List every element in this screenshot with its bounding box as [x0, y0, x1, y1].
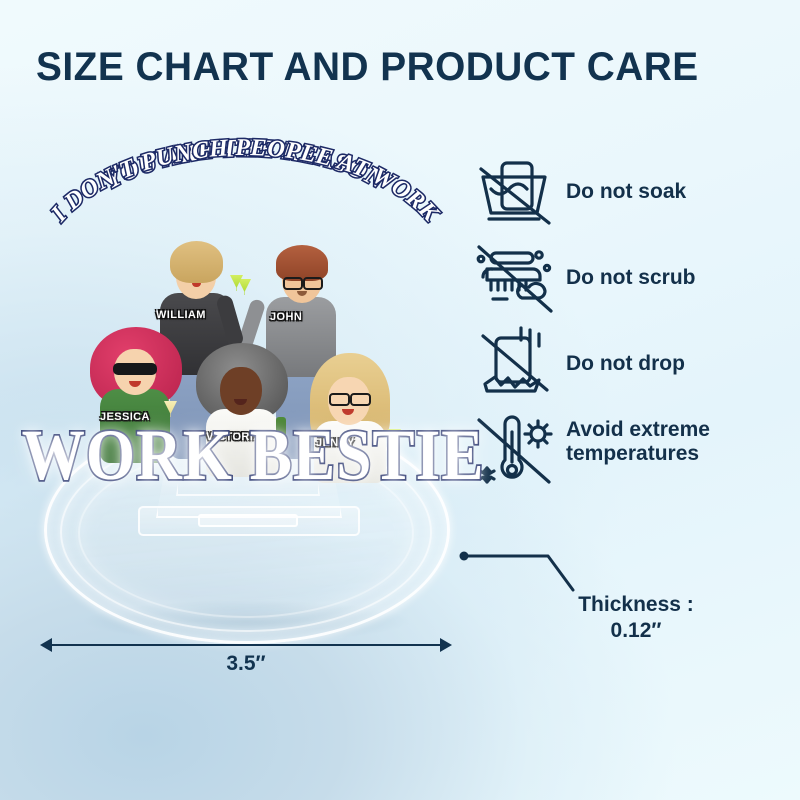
- care-label-do-not-soak: Do not soak: [566, 180, 686, 204]
- care-label-avoid-extreme-temperatures: Avoid extreme temperatures: [566, 410, 710, 466]
- thickness-label: Thickness : 0.12″: [536, 592, 736, 645]
- care-label-do-not-scrub: Do not scrub: [566, 266, 696, 290]
- product-preview: YOU ARE THE REASON I DON'T PUNCH PEOPLE …: [20, 120, 470, 650]
- care-label-line-1: Avoid extreme: [566, 418, 710, 441]
- character-name-john: JOHN: [270, 311, 302, 323]
- page-title: SIZE CHART AND PRODUCT CARE: [36, 45, 754, 90]
- thickness-label-text: Thickness :: [578, 593, 694, 616]
- character-group: WILLIAM JOHN: [80, 215, 440, 545]
- care-label-line-2: temperatures: [566, 442, 699, 465]
- glasses-icon: [350, 393, 371, 406]
- glasses-icon: [283, 277, 303, 290]
- width-value: 3.5″: [40, 652, 452, 676]
- thickness-callout: Thickness : 0.12″: [440, 530, 780, 660]
- size-chart-page: SIZE CHART AND PRODUCT CARE YOU ARE THE …: [0, 0, 800, 800]
- sunglasses-icon: [113, 363, 157, 375]
- do-not-soak-icon: [462, 155, 566, 229]
- care-item-avoid-extreme-temperatures: Avoid extreme temperatures: [462, 410, 792, 490]
- width-dimension: 3.5″: [40, 630, 452, 680]
- arrow-right-icon: [440, 638, 452, 652]
- care-item-do-not-soak: Do not soak: [462, 152, 792, 232]
- slogan-line-2: I DON'T PUNCH PEOPLE AT WORK: [46, 135, 445, 228]
- glasses-icon: [329, 393, 350, 406]
- care-item-do-not-scrub: Do not scrub: [462, 238, 792, 318]
- svg-text:I DON'T PUNCH PEOPLE AT WORK: I DON'T PUNCH PEOPLE AT WORK: [46, 135, 445, 228]
- product-wordmark: WORK BESTIE: [22, 420, 471, 492]
- dimension-line: [46, 644, 446, 646]
- glasses-icon: [303, 277, 323, 290]
- thickness-value: 0.12″: [611, 619, 662, 642]
- do-not-scrub-icon: [462, 241, 566, 315]
- care-instructions-list: Do not soak Do not scrub: [462, 152, 792, 496]
- care-item-do-not-drop: Do not drop: [462, 324, 792, 404]
- do-not-drop-icon: [462, 324, 566, 404]
- care-label-do-not-drop: Do not drop: [566, 352, 685, 376]
